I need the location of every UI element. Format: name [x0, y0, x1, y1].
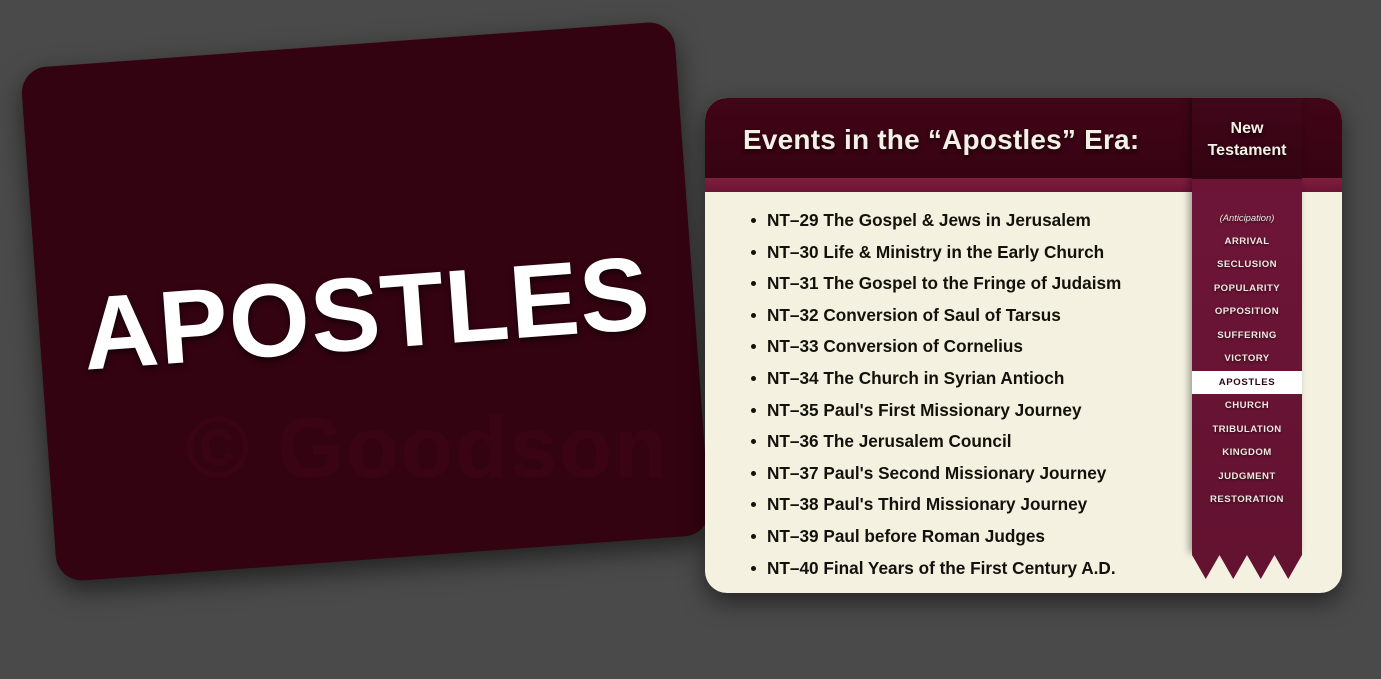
ribbon-era-item: JUDGMENT [1192, 465, 1302, 489]
event-list-item: NT–30 Life & Ministry in the Early Churc… [749, 244, 1179, 261]
ribbon-zigzag-icon [1192, 553, 1302, 579]
era-ribbon: New Testament (Anticipation)ARRIVALSECLU… [1192, 98, 1302, 553]
event-list-item: NT–39 Paul before Roman Judges [749, 528, 1179, 545]
ribbon-era-list: (Anticipation)ARRIVALSECLUSIONPOPULARITY… [1192, 206, 1302, 512]
ribbon-era-item: SUFFERING [1192, 324, 1302, 348]
ribbon-title: New Testament [1192, 118, 1302, 162]
ribbon-era-item-current: APOSTLES [1192, 371, 1302, 395]
events-list: NT–29 The Gospel & Jews in JerusalemNT–3… [749, 212, 1179, 591]
ribbon-era-item: TRIBULATION [1192, 418, 1302, 442]
events-card-title: Events in the “Apostles” Era: [743, 124, 1139, 156]
events-card: Events in the “Apostles” Era: NT–29 The … [705, 98, 1342, 593]
event-list-item: NT–32 Conversion of Saul of Tarsus [749, 307, 1179, 324]
ribbon-era-item: VICTORY [1192, 347, 1302, 371]
slide-stage: APOSTLES Events in the “Apostles” Era: N… [0, 0, 1381, 679]
ribbon-era-item: POPULARITY [1192, 277, 1302, 301]
event-list-item: NT–38 Paul's Third Missionary Journey [749, 496, 1179, 513]
era-title-text: APOSTLES [36, 238, 697, 390]
ribbon-era-item: SECLUSION [1192, 253, 1302, 277]
event-list-item: NT–31 The Gospel to the Fringe of Judais… [749, 275, 1179, 292]
ribbon-era-item: (Anticipation) [1192, 206, 1302, 230]
ribbon-era-item: RESTORATION [1192, 488, 1302, 512]
event-list-item: NT–37 Paul's Second Missionary Journey [749, 465, 1179, 482]
event-list-item: NT–36 The Jerusalem Council [749, 433, 1179, 450]
ribbon-era-item: CHURCH [1192, 394, 1302, 418]
event-list-item: NT–40 Final Years of the First Century A… [749, 560, 1179, 577]
era-title-card: APOSTLES [20, 21, 711, 583]
event-list-item: NT–34 The Church in Syrian Antioch [749, 370, 1179, 387]
event-list-item: NT–35 Paul's First Missionary Journey [749, 402, 1179, 419]
ribbon-era-item: OPPOSITION [1192, 300, 1302, 324]
ribbon-era-item: KINGDOM [1192, 441, 1302, 465]
event-list-item: NT–29 The Gospel & Jews in Jerusalem [749, 212, 1179, 229]
ribbon-title-line1: New [1192, 118, 1302, 140]
event-list-item: NT–33 Conversion of Cornelius [749, 338, 1179, 355]
ribbon-title-line2: Testament [1192, 140, 1302, 162]
ribbon-era-item: ARRIVAL [1192, 230, 1302, 254]
